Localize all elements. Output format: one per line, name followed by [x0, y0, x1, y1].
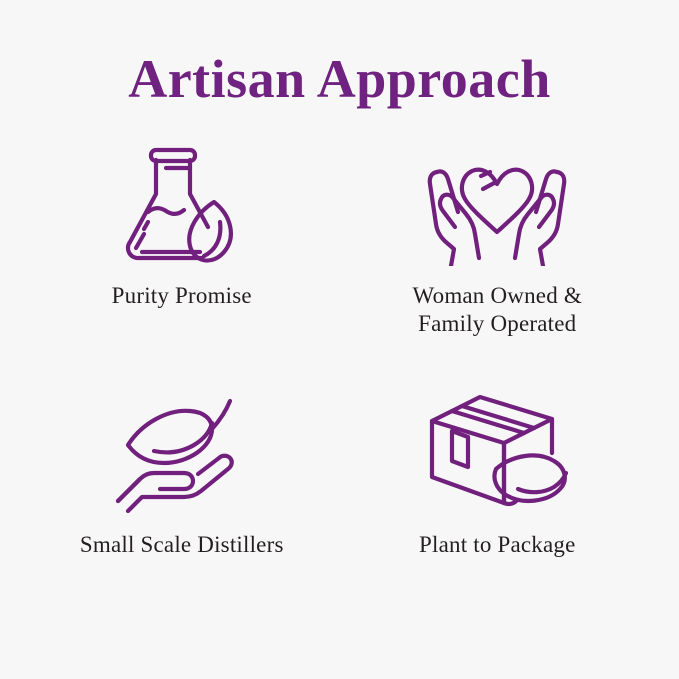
hand-leaf-icon — [112, 393, 252, 513]
feature-item-small-scale-distillers: Small Scale Distillers — [24, 393, 340, 650]
feature-label: Plant to Package — [419, 531, 576, 559]
feature-label: Purity Promise — [112, 282, 252, 310]
box-leaf-icon — [422, 393, 572, 513]
feature-item-woman-owned: Woman Owned & Family Operated — [340, 136, 656, 393]
artisan-approach-infographic: Artisan Approach — [0, 0, 679, 679]
feature-item-purity-promise: Purity Promise — [24, 136, 340, 393]
feature-label: Small Scale Distillers — [80, 531, 284, 559]
feature-label: Woman Owned & Family Operated — [413, 282, 582, 338]
hands-heart-icon — [419, 136, 575, 266]
feature-item-plant-to-package: Plant to Package — [340, 393, 656, 650]
page-title: Artisan Approach — [0, 0, 679, 122]
features-grid: Purity Promise — [0, 122, 679, 679]
flask-leaf-icon — [118, 136, 246, 266]
